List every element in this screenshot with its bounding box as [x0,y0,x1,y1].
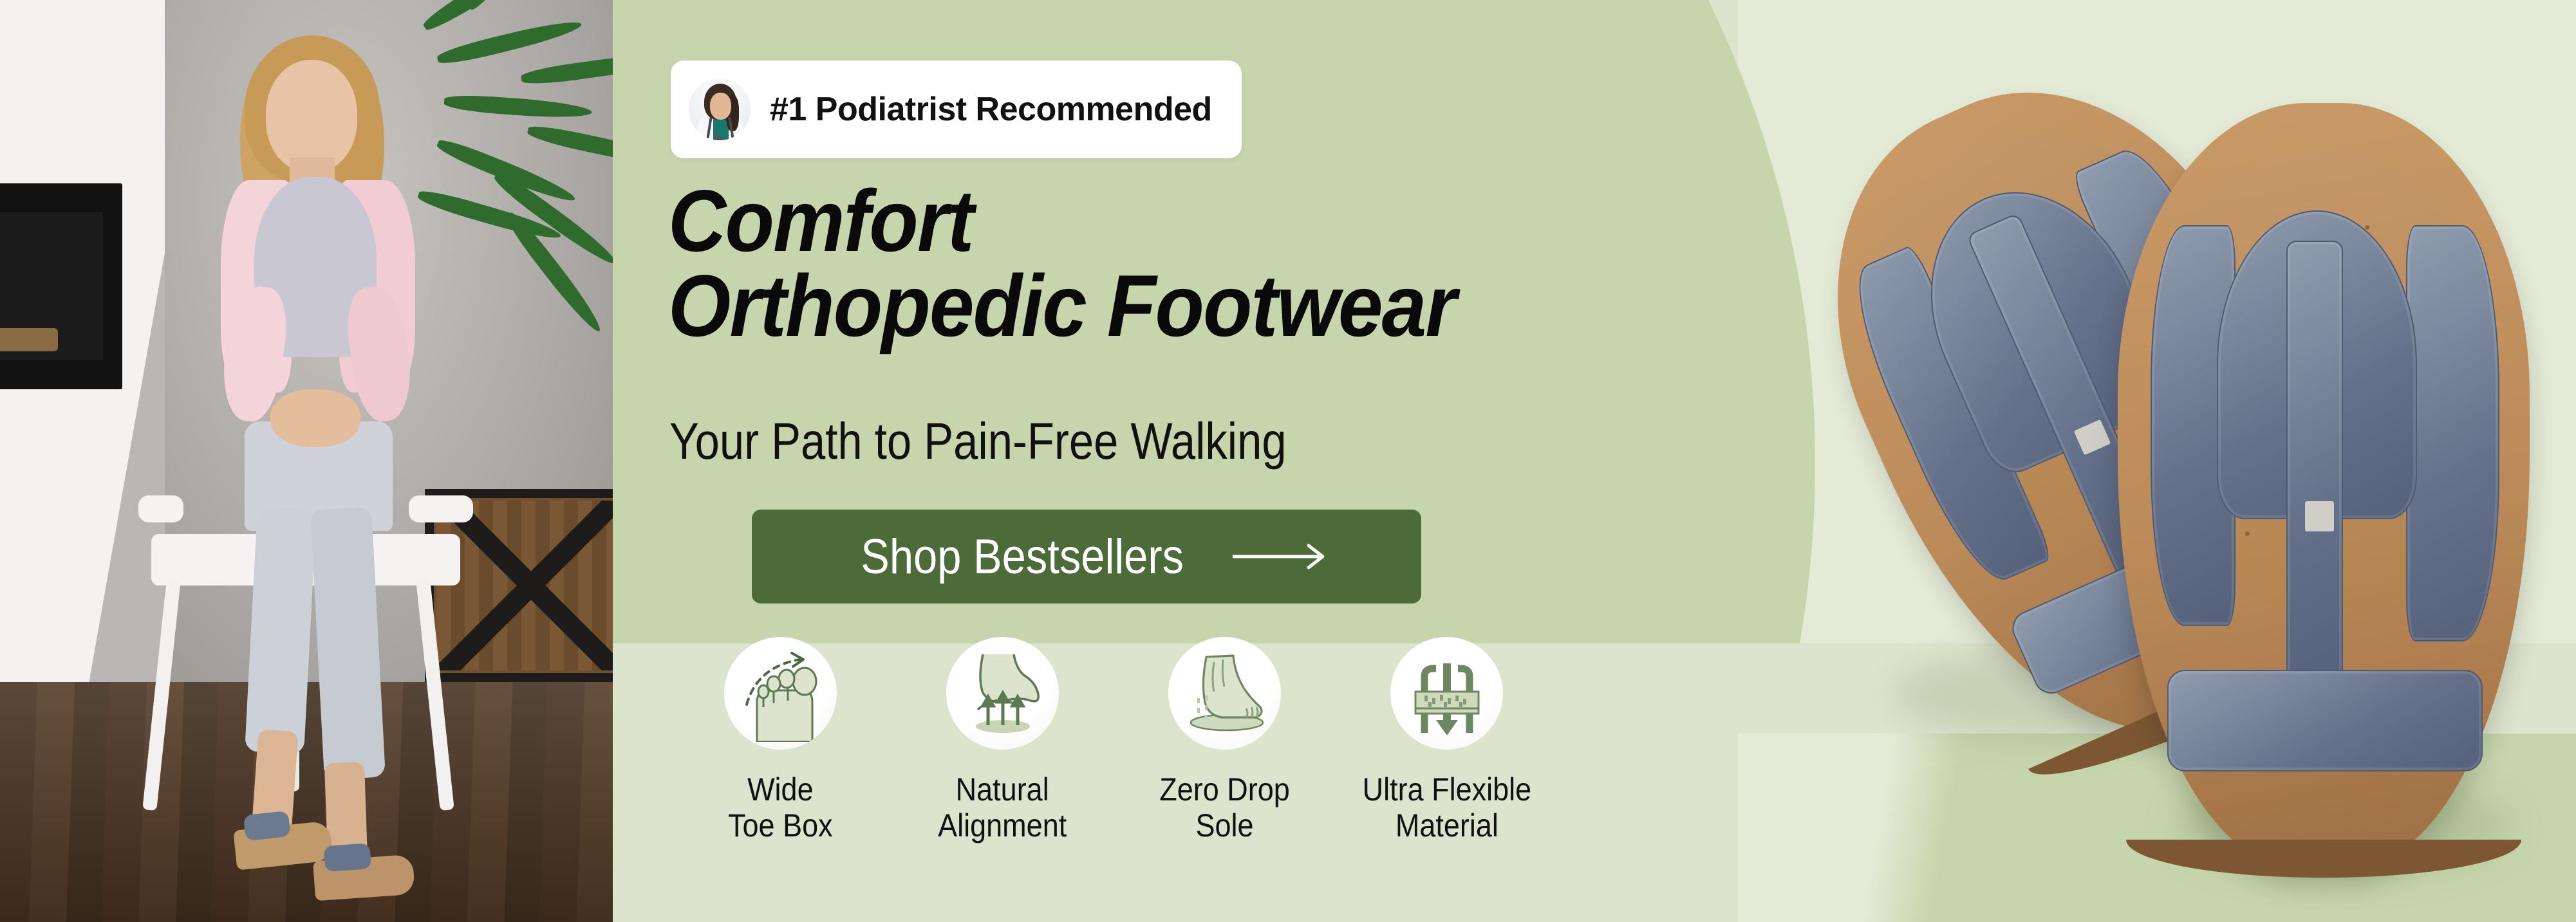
page-title: Comfort Orthopedic Footwear [668,179,1455,349]
product-shoe-front: EVERSTRIDES [2118,103,2530,869]
shop-bestsellers-button[interactable]: Shop Bestsellers [752,510,1421,604]
feature-item[interactable]: Ultra Flexible Material [1336,637,1558,844]
feature-label: Natural Alignment [938,771,1067,844]
feature-label-line-1: Ultra Flexible [1362,771,1531,807]
badge-label: #1 Podiatrist Recommended [770,90,1212,129]
ultra-flexible-icon [1390,637,1503,750]
feature-label-line-1: Wide [728,771,833,807]
headline-line-1: Comfort [668,172,973,270]
long-arrow-right-icon [1231,542,1334,571]
feature-label-line-2: Toe Box [728,807,833,844]
photo-sandal-right [313,854,415,901]
headline-line-2: Orthopedic Footwear [668,264,1455,349]
wide-toe-box-icon [724,637,837,750]
cta-label: Shop Bestsellers [861,529,1184,585]
feature-item[interactable]: Zero Drop Sole [1114,637,1336,844]
feature-label-line-2: Material [1362,807,1531,844]
feature-label: Ultra Flexible Material [1362,771,1531,844]
feature-item[interactable]: Wide Toe Box [669,637,891,844]
feature-label-line-1: Natural [938,771,1067,807]
photo-seated-woman [158,29,460,885]
feature-list: Wide Toe Box Natural [669,637,1558,844]
feature-label: Wide Toe Box [728,771,833,844]
photo-firewood-log [0,328,58,351]
zero-drop-sole-icon [1168,637,1281,750]
feature-label-line-2: Sole [1159,807,1290,844]
lifestyle-photo [0,0,613,922]
feature-label-line-1: Zero Drop [1159,771,1290,807]
natural-alignment-icon [946,637,1059,750]
doctor-avatar-icon [689,78,751,140]
subtitle: Your Path to Pain-Free Walking [669,412,1287,471]
podiatrist-recommended-badge: #1 Podiatrist Recommended [671,60,1242,158]
promotional-banner: #1 Podiatrist Recommended Comfort Orthop… [0,0,2576,922]
product-photo: EVERSTRIDES [1841,19,2576,922]
feature-label: Zero Drop Sole [1159,771,1290,844]
feature-label-line-2: Alignment [938,807,1067,844]
feature-item[interactable]: Natural Alignment [891,637,1114,844]
